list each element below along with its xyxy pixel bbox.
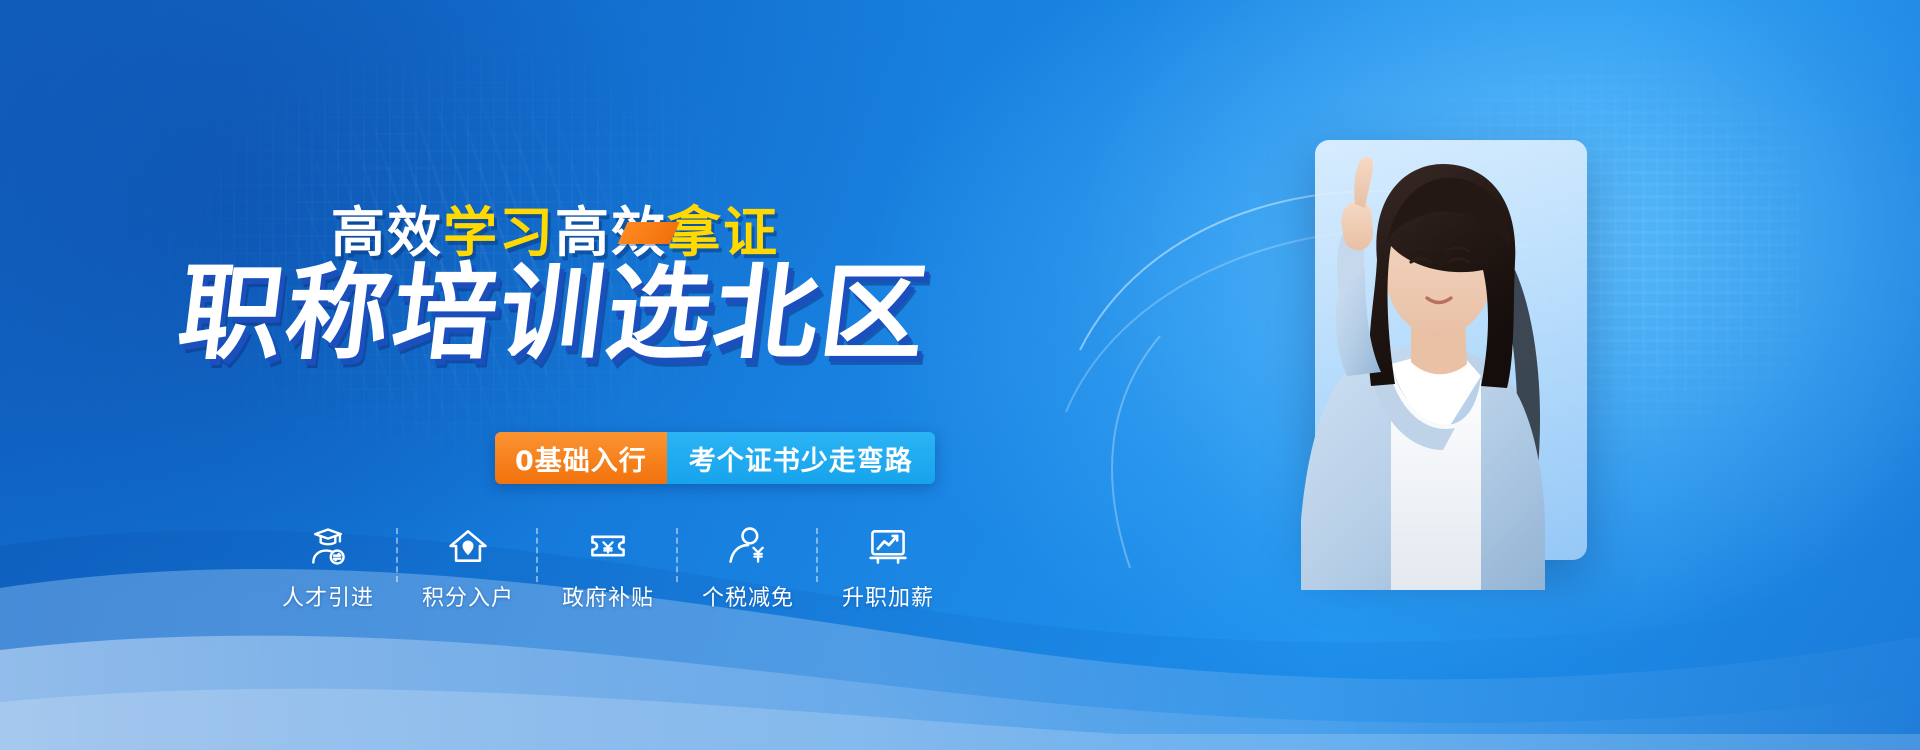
feature-label: 个税减免 <box>702 580 794 612</box>
ticket-yuan-icon <box>586 524 630 568</box>
chart-board-icon <box>866 524 910 568</box>
promo-pill: 0基础入行 考个证书少走弯路 <box>495 432 935 484</box>
person-yuan-icon <box>726 524 770 568</box>
feature-label: 政府补贴 <box>562 580 654 612</box>
feature-label: 升职加薪 <box>842 580 934 612</box>
headline-accent-char: 选 <box>600 252 722 374</box>
promo-pill-left-label: 0基础入行 <box>495 432 667 484</box>
promotional-banner: 高效学习高效拿证 职称培训选北区 0基础入行 考个证书少走弯路 人才引进 <box>0 0 1920 750</box>
feature-list: 人才引进 积分入户 政府补贴 <box>258 524 958 634</box>
headline-before-accent: 职称培训 <box>172 252 615 374</box>
feature-item-geshui-jianmian[interactable]: 个税减免 <box>678 524 818 612</box>
graduate-person-icon <box>306 524 350 568</box>
headline-after-accent: 北区 <box>707 252 936 374</box>
feature-label: 人才引进 <box>282 580 374 612</box>
promo-pill-right-label: 考个证书少走弯路 <box>667 432 935 484</box>
feature-item-jifen-ruhu[interactable]: 积分入户 <box>398 524 538 612</box>
feature-label: 积分入户 <box>422 580 514 612</box>
page-title: 职称培训选北区 <box>0 228 1119 379</box>
feature-item-shengzhi-jiaxin[interactable]: 升职加薪 <box>818 524 958 612</box>
feature-item-rencai-yinjin[interactable]: 人才引进 <box>258 524 398 612</box>
feature-item-zhengfu-butie[interactable]: 政府补贴 <box>538 524 678 612</box>
house-pin-icon <box>446 524 490 568</box>
orange-accent-mark <box>618 222 680 244</box>
